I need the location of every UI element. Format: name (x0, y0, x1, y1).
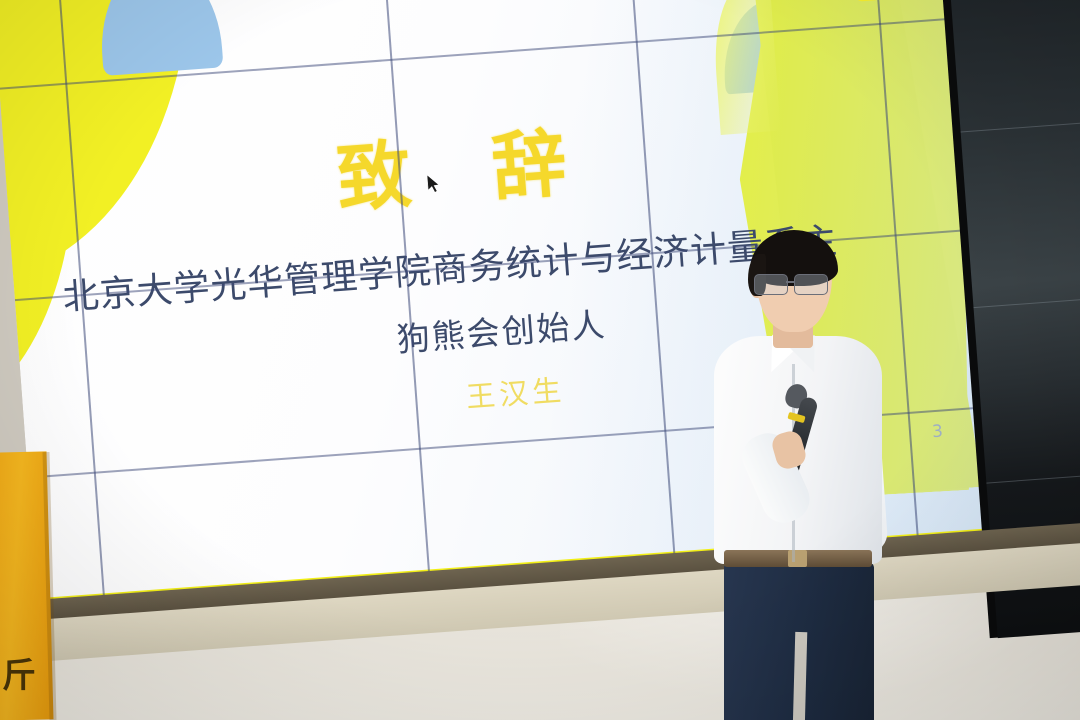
mouse-cursor-icon (427, 174, 442, 195)
standing-banner-glyph: 斤 (2, 648, 36, 697)
unlit-panel-seam (973, 297, 1080, 308)
speaker (700, 218, 910, 720)
unlit-panel-seam (986, 473, 1080, 484)
speaker-belt-buckle (788, 550, 807, 567)
glasses-lens-left (754, 274, 788, 295)
speaker-glasses-icon (754, 274, 836, 294)
unlit-panel-seam (961, 122, 1080, 133)
screenshot-stage: 致 辞 北京大学光华管理学院商务统计与经济计量系主 狗熊会创始人 王汉生 3 美… (0, 0, 1080, 720)
glasses-lens-right (794, 274, 828, 295)
glasses-bridge (786, 281, 794, 283)
